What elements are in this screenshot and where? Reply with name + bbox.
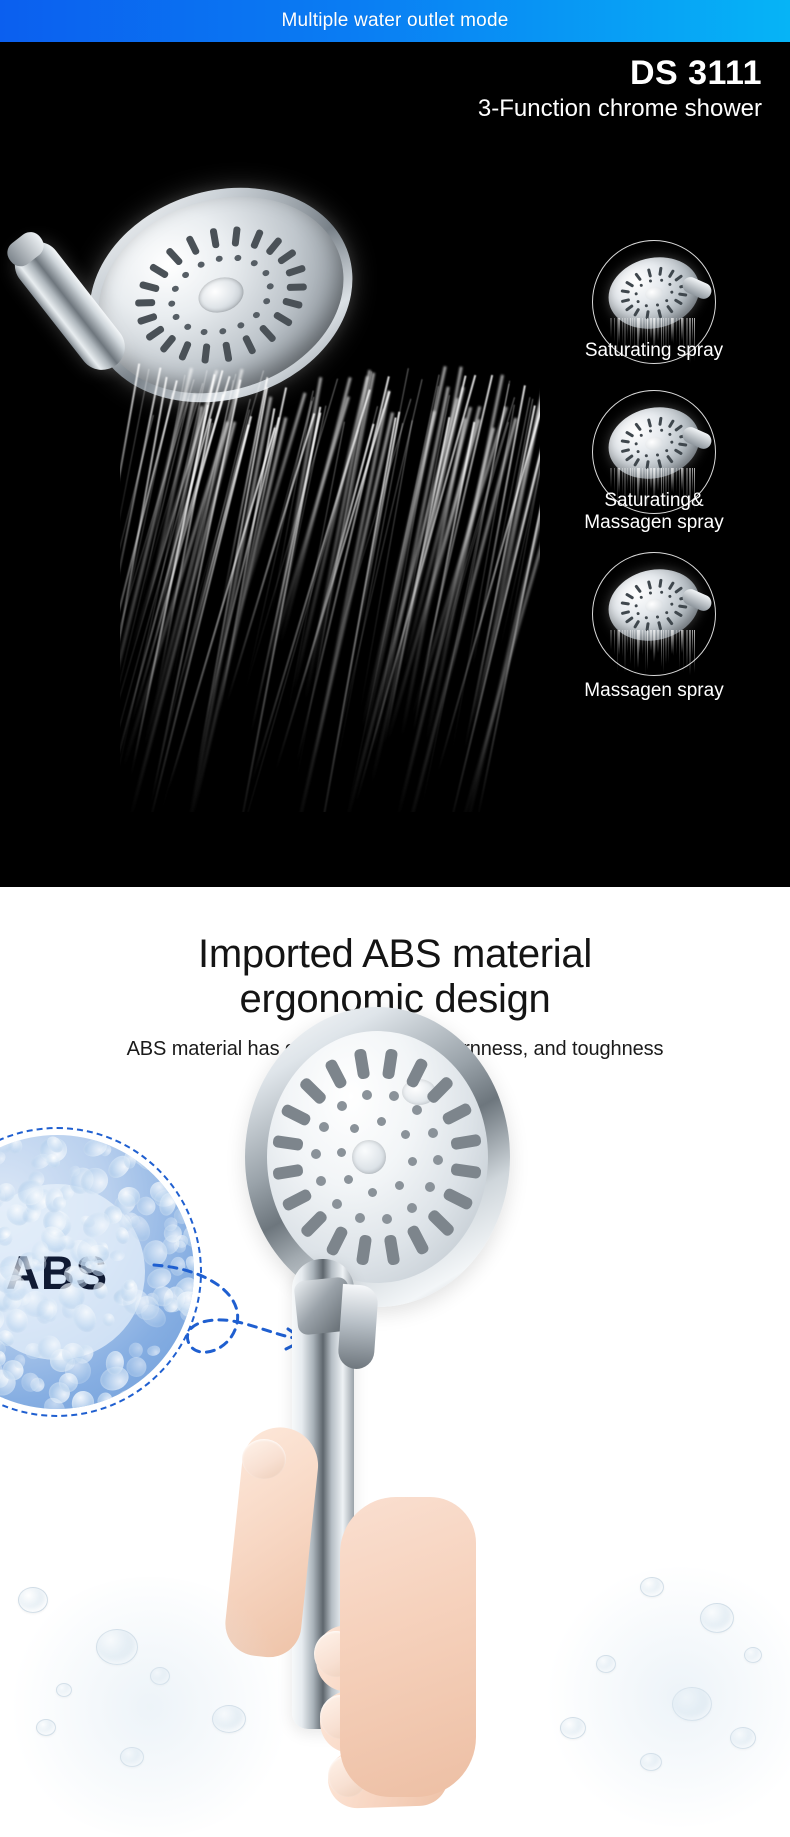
water-spray-graphic [120, 362, 540, 812]
shower-head-nozzle-face [267, 1031, 488, 1283]
product-shower-head-image [245, 1007, 510, 1307]
spray-mode-2-label: Saturating& Massagen spray [524, 490, 784, 534]
material-section: Imported ABS material ergonomic design A… [0, 887, 790, 1837]
water-mist [540, 1567, 790, 1827]
product-title-block: DS 3111 3-Function chrome shower [478, 54, 762, 124]
hero-section: DS 3111 3-Function chrome shower Saturat… [0, 42, 790, 887]
shower-head-center-hub [352, 1140, 386, 1174]
spray-mode-3-label: Massagen spray [524, 680, 784, 702]
water-droplet [18, 1587, 48, 1613]
spray-mode-1-label: Saturating spray [524, 340, 784, 362]
water-mist [0, 1577, 300, 1837]
spray-mode-3[interactable] [592, 552, 716, 676]
banner-title: Multiple water outlet mode [282, 10, 509, 32]
mode-hub [644, 597, 665, 614]
mode-hub [644, 285, 665, 302]
palm [340, 1497, 476, 1797]
top-banner: Multiple water outlet mode [0, 0, 790, 42]
shower-head-hub [194, 272, 248, 319]
mode-water-stream [610, 630, 696, 676]
product-model: DS 3111 [478, 54, 762, 93]
shower-hook [337, 1284, 379, 1370]
spray-mode-2-label-line1: Saturating& [524, 490, 784, 512]
product-subtitle: 3-Function chrome shower [478, 95, 762, 124]
mode-hub [644, 435, 665, 452]
spray-mode-2-label-line2: Massagen spray [524, 512, 784, 534]
thumb-nail [242, 1439, 286, 1479]
material-heading-line1: Imported ABS material [0, 932, 790, 977]
